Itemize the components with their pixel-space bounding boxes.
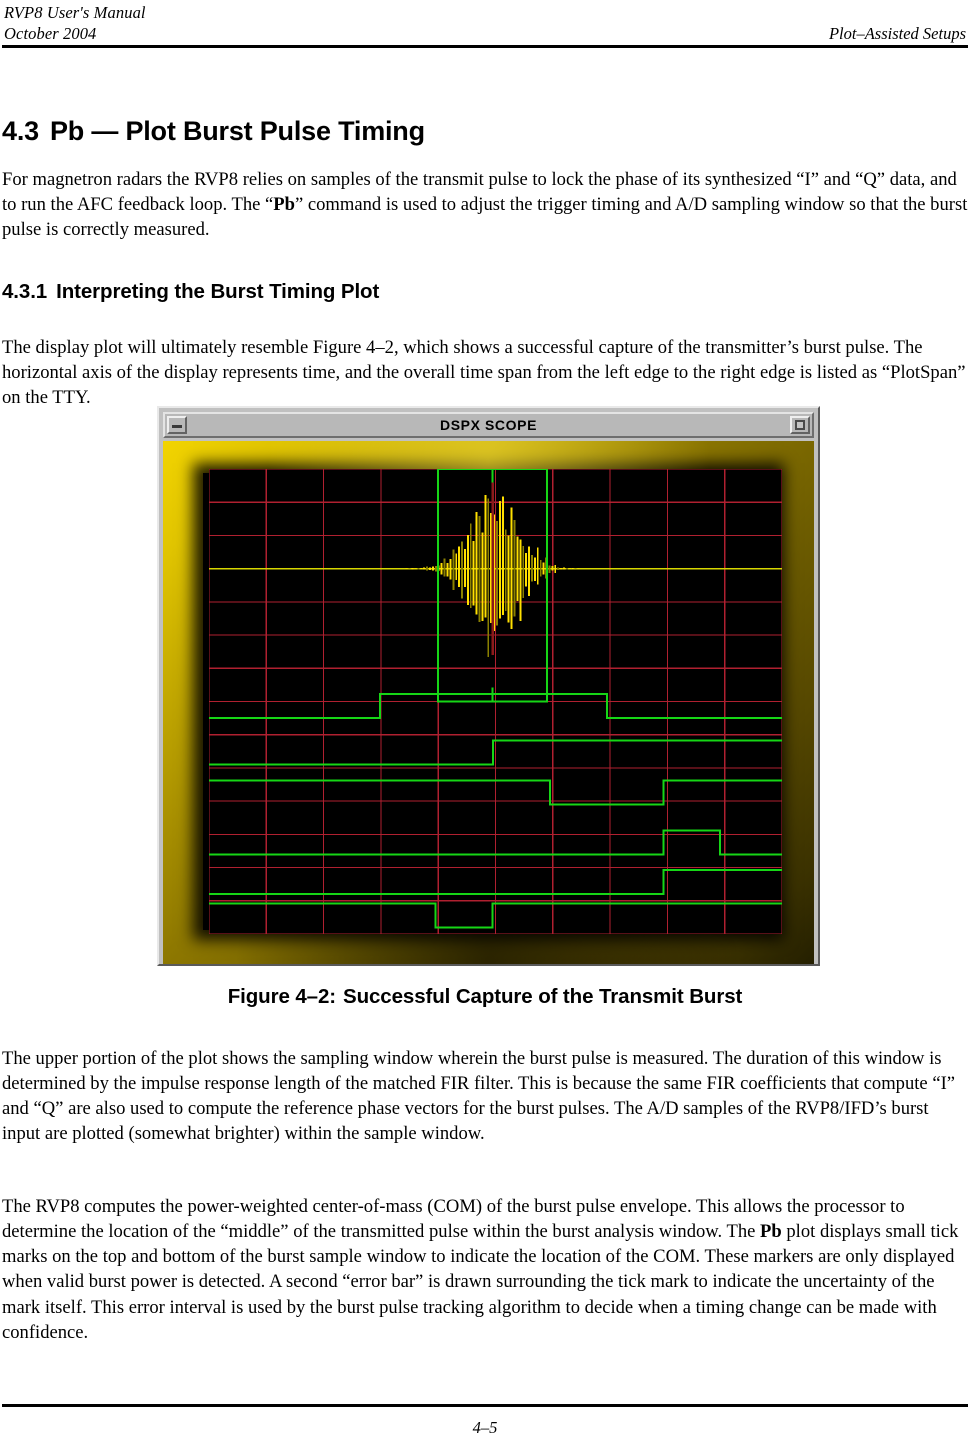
manual-date: October 2004 [4, 23, 146, 44]
maximize-icon[interactable] [790, 416, 810, 434]
running-head: RVP8 User's Manual October 2004 Plot–Ass… [4, 2, 966, 44]
header-rule [2, 45, 968, 48]
burst-timing-plot [209, 469, 782, 934]
scope-bezel [163, 441, 814, 964]
window-titlebar[interactable]: DSPX SCOPE [163, 412, 814, 438]
manual-title: RVP8 User's Manual [4, 2, 146, 23]
intro-command-bold: Pb [273, 194, 295, 215]
figure-scope-window: DSPX SCOPE [157, 406, 820, 966]
subsection-number: 4.3.1 [2, 280, 47, 303]
subsection-title: 4.3.1Interpreting the Burst Timing Plot [2, 279, 379, 304]
interpreting-paragraph: The display plot will ultimately resembl… [2, 335, 970, 411]
scope-plot-area[interactable] [209, 469, 782, 934]
upper-portion-paragraph: The upper portion of the plot shows the … [2, 1046, 970, 1147]
subsection-title-text: Interpreting the Burst Timing Plot [56, 280, 379, 303]
document-page: RVP8 User's Manual October 2004 Plot–Ass… [0, 0, 970, 1455]
window-title: DSPX SCOPE [165, 417, 812, 433]
figure-caption: Figure 4–2:Successful Capture of the Tra… [0, 985, 970, 1009]
page-title: 4.3Pb — Plot Burst Pulse Timing [2, 115, 425, 147]
page-number: 4–5 [0, 1418, 970, 1438]
section-number: 4.3 [2, 116, 39, 146]
com-command-bold: Pb [760, 1221, 782, 1242]
dspx-scope-window[interactable]: DSPX SCOPE [157, 406, 820, 966]
footer-rule [2, 1404, 968, 1407]
running-head-left: RVP8 User's Manual October 2004 [4, 2, 146, 44]
figure-caption-text: Successful Capture of the Transmit Burst [343, 985, 742, 1008]
intro-paragraph: For magnetron radars the RVP8 relies on … [2, 167, 970, 243]
section-title: Pb — Plot Burst Pulse Timing [50, 116, 425, 146]
figure-caption-label: Figure 4–2: [228, 985, 336, 1008]
running-head-right: Plot–Assisted Setups [829, 23, 966, 44]
com-paragraph: The RVP8 computes the power-weighted cen… [2, 1194, 970, 1346]
